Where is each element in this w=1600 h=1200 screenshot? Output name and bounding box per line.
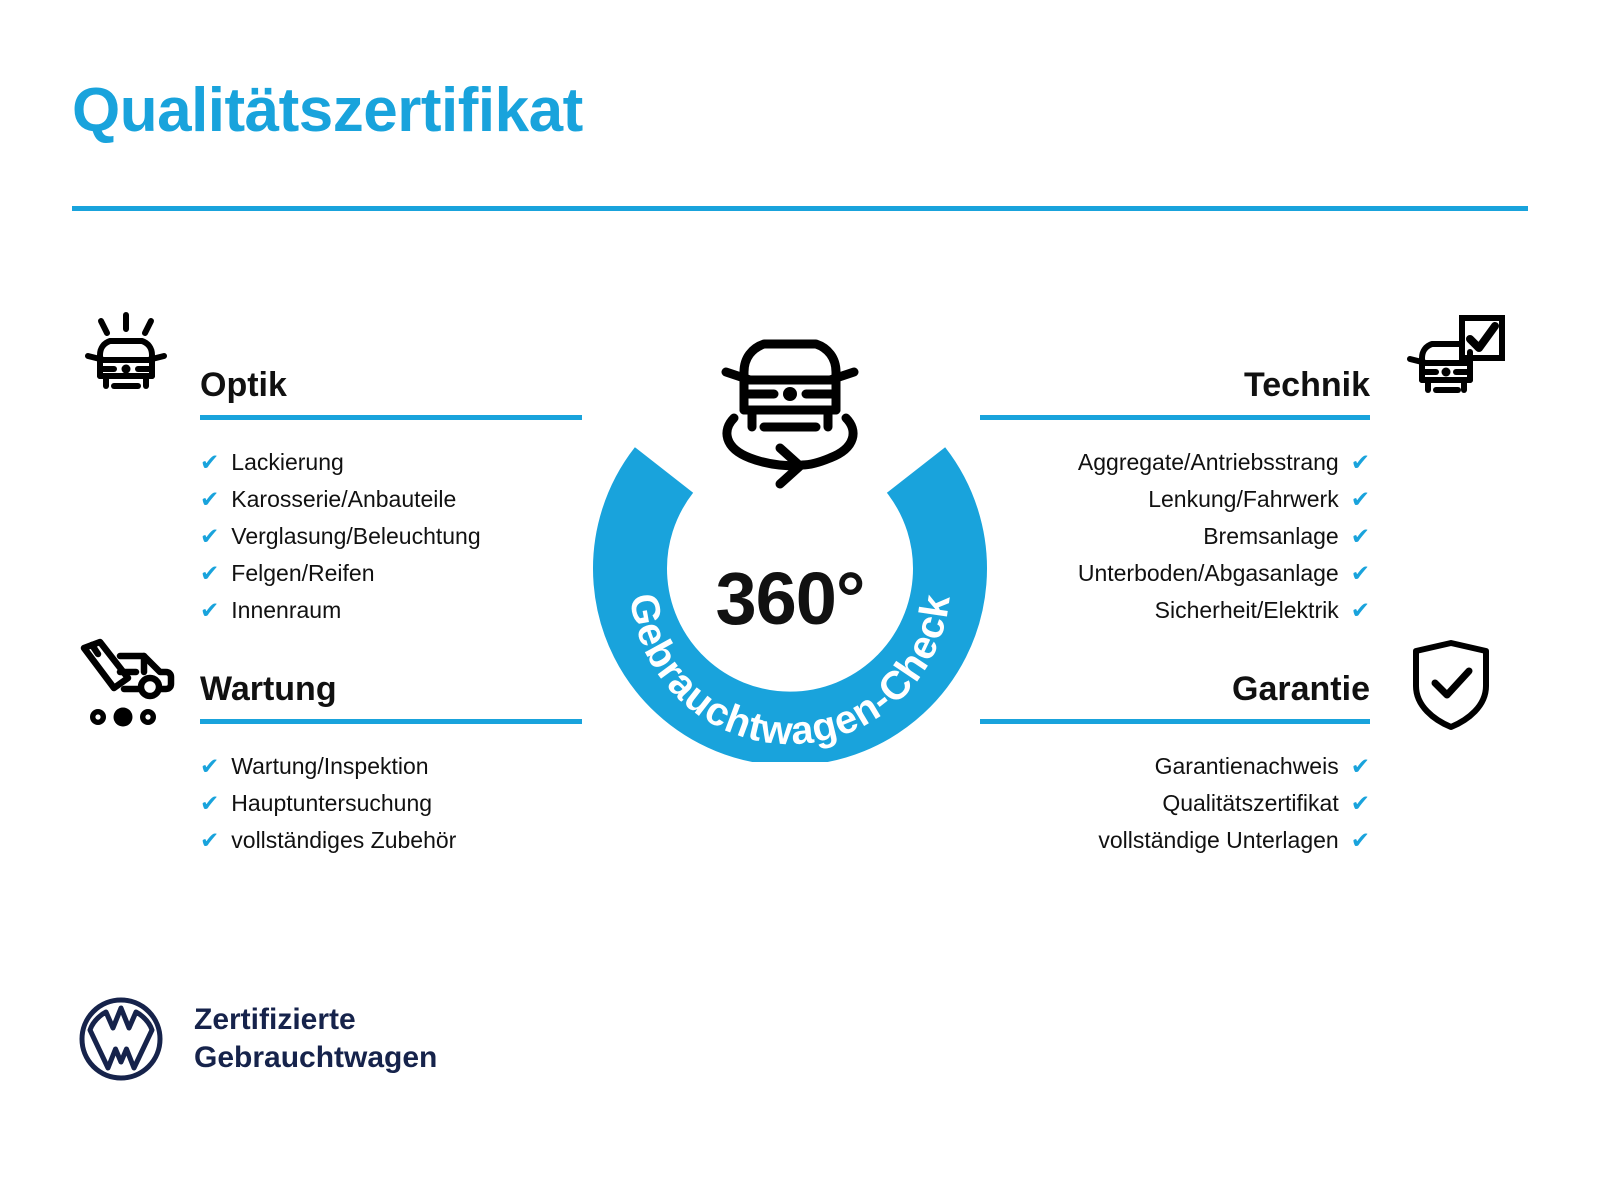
list-item-label: Lenkung/Fahrwerk bbox=[1148, 481, 1339, 518]
shield-check-icon bbox=[1406, 638, 1496, 732]
list-item: Lenkung/Fahrwerk✔ bbox=[980, 481, 1370, 518]
certificate-page: Qualitätszertifikat bbox=[0, 0, 1600, 1200]
check-icon: ✔ bbox=[1351, 444, 1370, 481]
section-wartung: Wartung ✔Wartung/Inspektion ✔Hauptunters… bbox=[200, 672, 582, 859]
list-item: Aggregate/Antriebsstrang✔ bbox=[980, 444, 1370, 481]
section-optik-divider bbox=[200, 415, 582, 420]
header-divider bbox=[72, 206, 1528, 211]
section-wartung-divider bbox=[200, 719, 582, 724]
check-icon: ✔ bbox=[200, 592, 219, 629]
section-wartung-list: ✔Wartung/Inspektion ✔Hauptuntersuchung ✔… bbox=[200, 748, 582, 859]
list-item-label: Verglasung/Beleuchtung bbox=[231, 518, 480, 555]
list-item: ✔Karosserie/Anbauteile bbox=[200, 481, 582, 518]
check-icon: ✔ bbox=[1351, 555, 1370, 592]
list-item: ✔Wartung/Inspektion bbox=[200, 748, 582, 785]
section-technik-list: Aggregate/Antriebsstrang✔ Lenkung/Fahrwe… bbox=[980, 444, 1370, 629]
list-item-label: Qualitätszertifikat bbox=[1162, 785, 1338, 822]
list-item: ✔Felgen/Reifen bbox=[200, 555, 582, 592]
list-item: Garantienachweis✔ bbox=[980, 748, 1370, 785]
check-icon: ✔ bbox=[200, 481, 219, 518]
section-optik-list: ✔Lackierung ✔Karosserie/Anbauteile ✔Verg… bbox=[200, 444, 582, 629]
check-icon: ✔ bbox=[200, 748, 219, 785]
footer-brand-text: Zertifizierte Gebrauchtwagen bbox=[194, 1001, 437, 1078]
list-item-label: Lackierung bbox=[231, 444, 344, 481]
check-icon: ✔ bbox=[200, 785, 219, 822]
list-item-label: Sicherheit/Elektrik bbox=[1155, 592, 1339, 629]
page-title: Qualitätszertifikat bbox=[72, 78, 583, 143]
section-garantie-list: Garantienachweis✔ Qualitätszertifikat✔ v… bbox=[980, 748, 1370, 859]
check-icon: ✔ bbox=[1351, 748, 1370, 785]
car-front-checkbox-icon bbox=[1396, 312, 1508, 408]
list-item: vollständige Unterlagen✔ bbox=[980, 822, 1370, 859]
footer-line-1: Zertifizierte bbox=[194, 1001, 437, 1039]
list-item: Sicherheit/Elektrik✔ bbox=[980, 592, 1370, 629]
badge-center-value: 360° bbox=[588, 556, 992, 641]
section-technik-divider bbox=[980, 415, 1370, 420]
check-icon: ✔ bbox=[1351, 592, 1370, 629]
check-icon: ✔ bbox=[1351, 785, 1370, 822]
list-item-label: Bremsanlage bbox=[1203, 518, 1339, 555]
list-item: Bremsanlage✔ bbox=[980, 518, 1370, 555]
list-item-label: Innenraum bbox=[231, 592, 341, 629]
list-item-label: Unterboden/Abgasanlage bbox=[1078, 555, 1339, 592]
list-item-label: Wartung/Inspektion bbox=[231, 748, 428, 785]
section-technik: Technik Aggregate/Antriebsstrang✔ Lenkun… bbox=[980, 368, 1370, 629]
check-icon: ✔ bbox=[1351, 822, 1370, 859]
list-item: Qualitätszertifikat✔ bbox=[980, 785, 1370, 822]
section-garantie-divider bbox=[980, 719, 1370, 724]
volkswagen-logo bbox=[78, 996, 164, 1082]
list-item: ✔Hauptuntersuchung bbox=[200, 785, 582, 822]
badge-360-gebrauchtwagen-check: Gebrauchtwagen-Check bbox=[588, 300, 992, 762]
section-optik-title: Optik bbox=[200, 368, 582, 402]
list-item-label: Karosserie/Anbauteile bbox=[231, 481, 456, 518]
list-item: ✔vollständiges Zubehör bbox=[200, 822, 582, 859]
check-icon: ✔ bbox=[200, 518, 219, 555]
section-garantie-title: Garantie bbox=[980, 672, 1370, 706]
check-icon: ✔ bbox=[1351, 518, 1370, 555]
check-icon: ✔ bbox=[200, 444, 219, 481]
list-item: ✔Innenraum bbox=[200, 592, 582, 629]
footer-line-2: Gebrauchtwagen bbox=[194, 1039, 437, 1077]
list-item: ✔Lackierung bbox=[200, 444, 582, 481]
check-icon: ✔ bbox=[200, 555, 219, 592]
section-optik: Optik ✔Lackierung ✔Karosserie/Anbauteile… bbox=[200, 368, 582, 629]
list-item-label: Felgen/Reifen bbox=[231, 555, 374, 592]
list-item-label: Garantienachweis bbox=[1155, 748, 1339, 785]
section-garantie: Garantie Garantienachweis✔ Qualitätszert… bbox=[980, 672, 1370, 859]
list-item: ✔Verglasung/Beleuchtung bbox=[200, 518, 582, 555]
list-item-label: Aggregate/Antriebsstrang bbox=[1078, 444, 1339, 481]
car-front-shine-icon bbox=[70, 312, 182, 408]
footer-brand-lockup: Zertifizierte Gebrauchtwagen bbox=[78, 996, 437, 1082]
car-service-tool-icon bbox=[70, 632, 182, 728]
list-item-label: vollständiges Zubehör bbox=[231, 822, 456, 859]
list-item-label: vollständige Unterlagen bbox=[1098, 822, 1338, 859]
check-icon: ✔ bbox=[200, 822, 219, 859]
check-icon: ✔ bbox=[1351, 481, 1370, 518]
list-item: Unterboden/Abgasanlage✔ bbox=[980, 555, 1370, 592]
section-wartung-title: Wartung bbox=[200, 672, 582, 706]
list-item-label: Hauptuntersuchung bbox=[231, 785, 432, 822]
section-technik-title: Technik bbox=[980, 368, 1370, 402]
